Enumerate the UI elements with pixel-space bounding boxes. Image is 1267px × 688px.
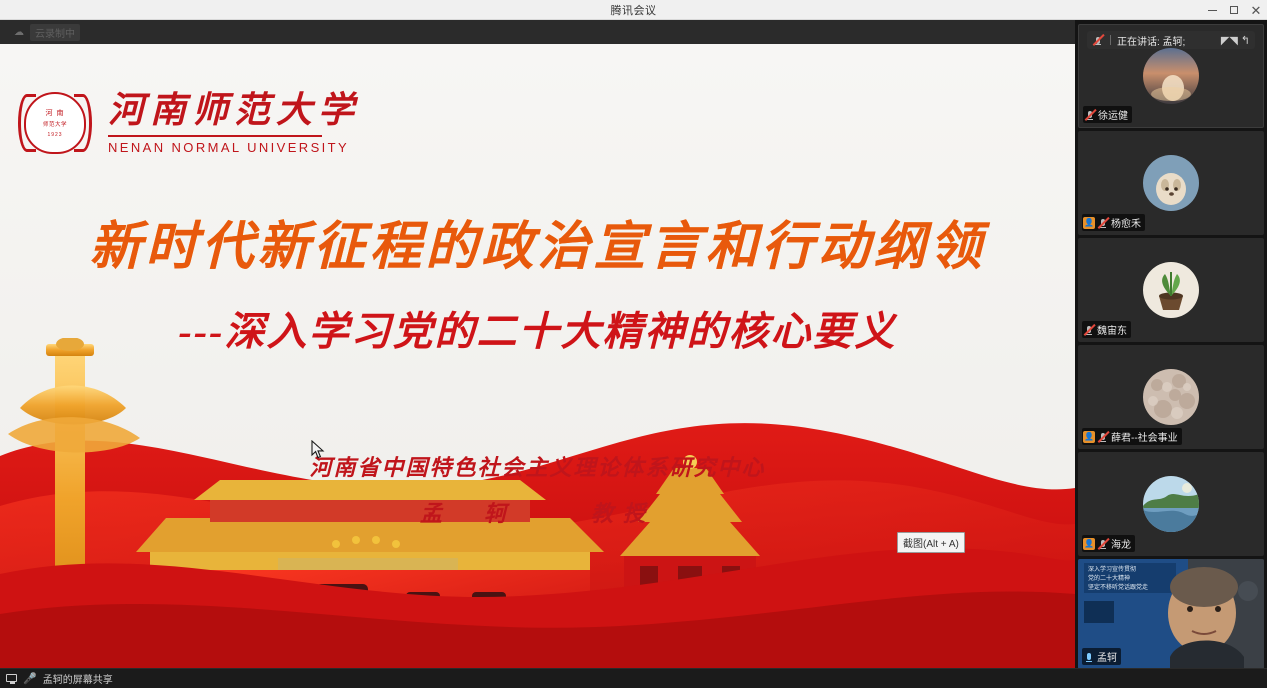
participant-tile[interactable]: 魏宙东: [1078, 238, 1264, 342]
slide-headline: 新时代新征程的政治宣言和行动纲领: [0, 204, 1075, 279]
avatar: [1143, 369, 1199, 425]
participant-tile[interactable]: 正在讲话: 孟轲; ◤◥ ↰ 徐运健: [1078, 24, 1264, 128]
maximize-button[interactable]: [1223, 0, 1245, 20]
crest-mid-text: 师范大学: [43, 120, 67, 128]
svg-text:党的二十大精神: 党的二十大精神: [1088, 574, 1130, 582]
screenshot-tooltip: 截图(Alt + A): [897, 532, 965, 553]
mic-muted-icon: [1084, 109, 1096, 121]
participant-nametag: 魏宙东: [1082, 321, 1131, 338]
participant-tile[interactable]: 👤 海龙: [1078, 452, 1264, 556]
close-button[interactable]: ✕: [1245, 0, 1267, 20]
mic-muted-icon: [1092, 34, 1104, 46]
logo-divider: [108, 135, 322, 137]
cloud-recording-icon: ☁: [14, 27, 24, 38]
mic-muted-icon: [1097, 538, 1109, 550]
university-name-en: NENAN NORMAL UNIVERSITY: [108, 140, 360, 155]
participant-name: 海龙: [1111, 536, 1131, 551]
host-badge-icon: 👤: [1083, 217, 1095, 229]
mic-on-icon[interactable]: 🎤: [23, 672, 37, 685]
avatar: [1143, 48, 1199, 104]
participant-nametag: 孟轲: [1082, 648, 1121, 665]
avatar: [1143, 476, 1199, 532]
window-titlebar: 腾讯会议 ✕: [0, 0, 1267, 20]
crest-year-text: 1923: [47, 132, 62, 138]
window-title: 腾讯会议: [611, 2, 657, 18]
avatar: [1143, 262, 1199, 318]
crest-top-text: 河 南: [46, 108, 65, 118]
participant-tile[interactable]: 👤 薛君--社会事业: [1078, 345, 1264, 449]
university-name-cn: 河南师范大学: [108, 91, 360, 131]
shared-screen-stage[interactable]: ☁ 云录制中: [0, 20, 1075, 668]
speaking-banner: 正在讲话: 孟轲; ◤◥ ↰: [1087, 31, 1255, 49]
host-badge-icon: 👤: [1083, 431, 1095, 443]
mic-muted-icon: [1083, 324, 1095, 336]
participant-name: 徐运健: [1098, 107, 1128, 122]
participant-name: 魏宙东: [1097, 322, 1127, 337]
mic-muted-icon: [1097, 217, 1109, 229]
volume-icon[interactable]: ◤◥: [1221, 34, 1238, 47]
recording-badge: 云录制中: [30, 24, 80, 41]
participant-nametag: 👤 薛君--社会事业: [1082, 428, 1182, 445]
screen-share-icon[interactable]: [6, 673, 17, 685]
status-bar: 🎤 孟轲的屏幕共享: [0, 668, 1267, 688]
university-logo-block: 河 南 师范大学 1923 河南师范大学 NENAN NORMAL UNIVER…: [18, 86, 360, 160]
university-name-group: 河南师范大学 NENAN NORMAL UNIVERSITY: [108, 91, 360, 154]
university-crest-icon: 河 南 师范大学 1923: [18, 86, 92, 160]
slide-organization: 河南省中国特色社会主义理论体系研究中心: [0, 450, 1075, 482]
participant-nametag: 👤 海龙: [1082, 535, 1135, 552]
share-topbar: ☁ 云录制中: [0, 20, 1075, 44]
participant-rail[interactable]: 正在讲话: 孟轲; ◤◥ ↰ 徐运健: [1075, 20, 1267, 668]
participant-tile[interactable]: 👤 杨愈禾: [1078, 131, 1264, 235]
mouse-cursor: [311, 440, 325, 460]
slide-subheadline: ---深入学习党的二十大精神的核心要义: [0, 299, 1075, 357]
reply-icon[interactable]: ↰: [1241, 34, 1250, 47]
host-badge-icon: 👤: [1083, 538, 1095, 550]
slide-speaker-title: 教授: [591, 501, 655, 526]
slide-speaker: 孟 轲 教授: [0, 496, 1075, 528]
mic-on-icon: [1083, 651, 1095, 663]
speaking-banner-text: 正在讲话: 孟轲;: [1117, 33, 1185, 48]
status-bar-text: 孟轲的屏幕共享: [43, 671, 113, 686]
slide-speaker-name: 孟 轲: [420, 501, 516, 526]
participant-nametag: 👤 杨愈禾: [1082, 214, 1145, 231]
minimize-button[interactable]: [1201, 0, 1223, 20]
participant-name: 薛君--社会事业: [1111, 429, 1178, 444]
mic-muted-icon: [1097, 431, 1109, 443]
svg-text:坚定不移听党话跟党走: 坚定不移听党话跟党走: [1088, 583, 1148, 591]
svg-text:深入学习宣传贯彻: 深入学习宣传贯彻: [1088, 565, 1136, 573]
window-controls: ✕: [1201, 0, 1267, 20]
participant-name: 杨愈禾: [1111, 215, 1141, 230]
tencent-meeting-window: 腾讯会议 ✕ ☁ 云录制中: [0, 0, 1267, 688]
avatar: [1143, 155, 1199, 211]
presentation-slide: 河 南 师范大学 1923 河南师范大学 NENAN NORMAL UNIVER…: [0, 44, 1075, 668]
participant-tile[interactable]: 深入学习宣传贯彻 党的二十大精神 坚定不移听党话跟党走 孟轲: [1078, 559, 1264, 669]
participant-nametag: 徐运健: [1083, 106, 1132, 123]
participant-name: 孟轲: [1097, 649, 1117, 664]
speaking-banner-actions[interactable]: ◤◥ ↰: [1221, 34, 1250, 47]
